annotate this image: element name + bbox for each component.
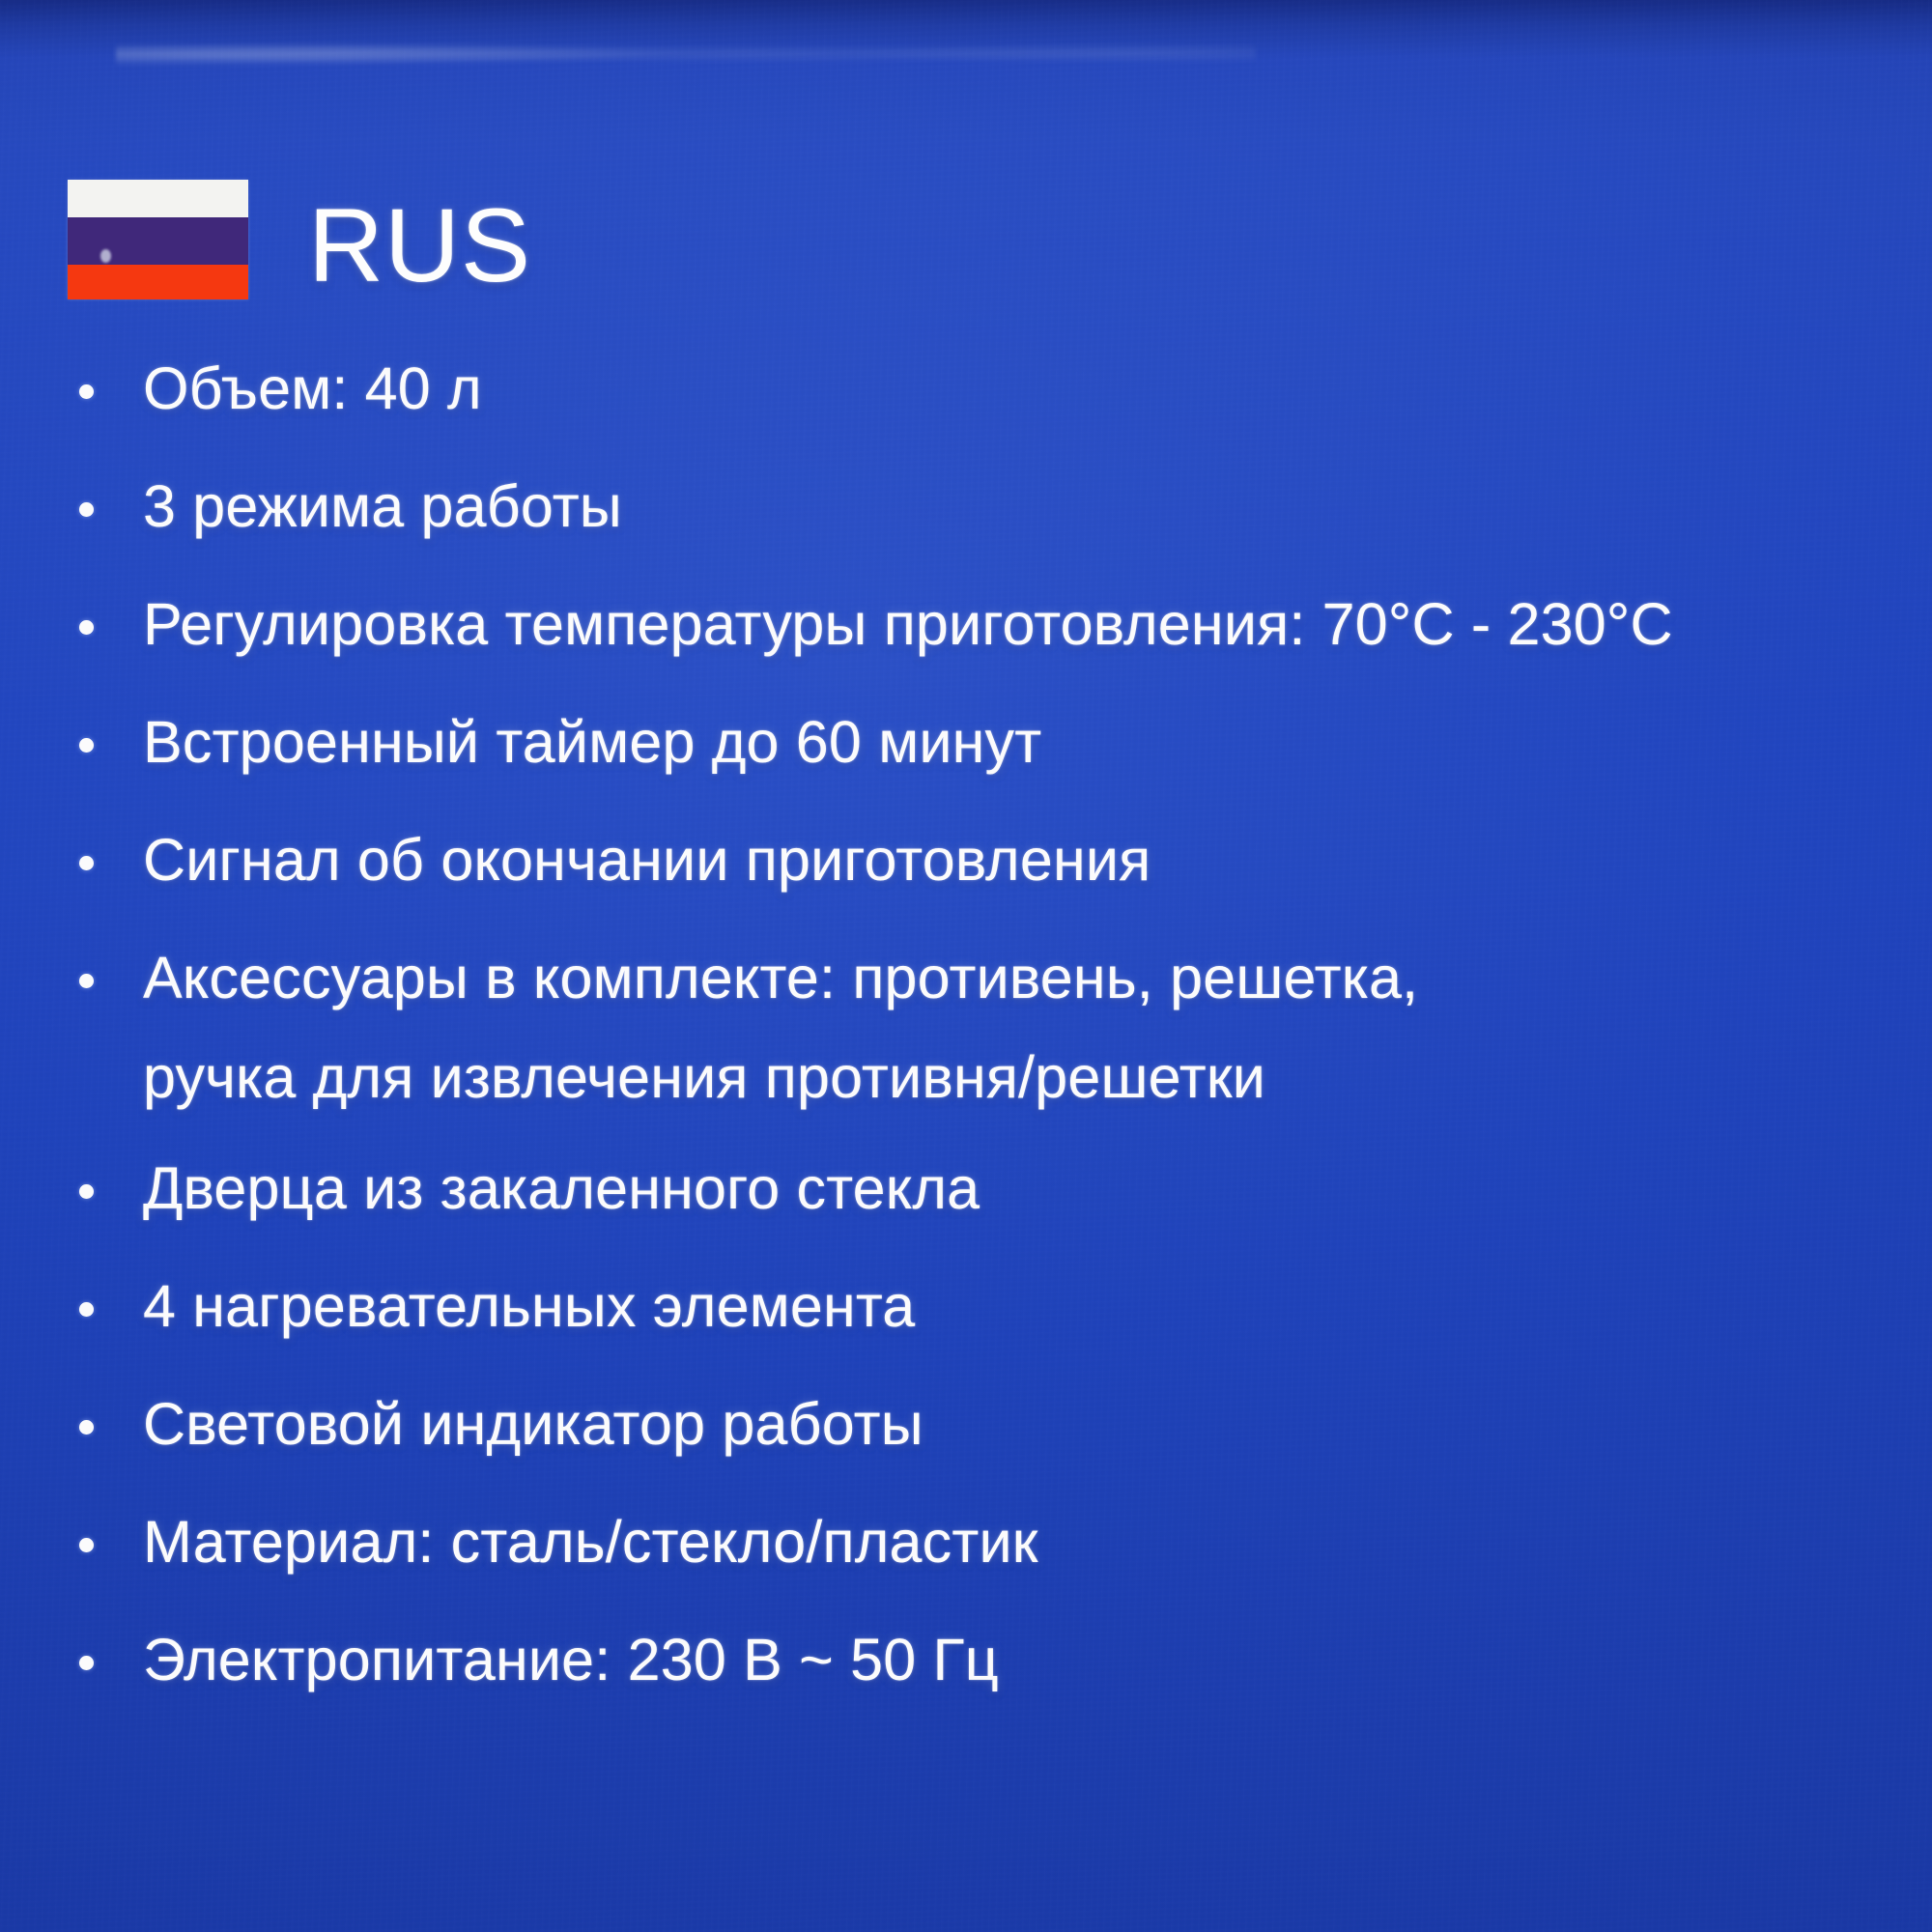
flag-speck [100,249,111,263]
list-item: 3 режима работы [71,477,1907,536]
russian-flag-icon [68,180,248,299]
flag-band-blue [68,217,248,265]
list-item: Дверца из закаленного стекла [71,1159,1907,1218]
list-item-text: Аксессуары в комплекте: противень, решет… [143,949,1907,1107]
print-smudge [116,37,1256,70]
language-code-label: RUS [308,193,531,298]
specification-list: Объем: 40 л 3 режима работы Регулировка … [71,359,1907,1748]
list-item-text: Электропитание: 230 В ~ 50 Гц [143,1631,1907,1690]
list-item-text: Материал: сталь/стекло/пластик [143,1513,1907,1572]
list-item: Регулировка температуры приготовления: 7… [71,595,1907,654]
list-item: Объем: 40 л [71,359,1907,418]
language-header: RUS [68,180,531,299]
bullet-icon [71,1513,143,1552]
list-item: Встроенный таймер до 60 минут [71,713,1907,772]
list-item-text: Дверца из закаленного стекла [143,1159,1907,1218]
list-item-text: 4 нагревательных элемента [143,1277,1907,1336]
list-item: Электропитание: 230 В ~ 50 Гц [71,1631,1907,1690]
flag-band-white [68,180,248,217]
list-item-text: Сигнал об окончании приготовления [143,831,1907,890]
list-item-text: Световой индикатор работы [143,1395,1907,1454]
list-item: Аксессуары в комплекте: противень, решет… [71,949,1907,1107]
list-item-text: 3 режима работы [143,477,1907,536]
bullet-icon [71,477,143,517]
list-item-text: Регулировка температуры приготовления: 7… [143,595,1907,654]
bullet-icon [71,595,143,635]
bullet-icon [71,831,143,870]
list-item-text: Встроенный таймер до 60 минут [143,713,1907,772]
bullet-icon [71,713,143,753]
list-item: Световой индикатор работы [71,1395,1907,1454]
bullet-icon [71,1395,143,1435]
list-item: 4 нагревательных элемента [71,1277,1907,1336]
bullet-icon [71,1277,143,1317]
product-box-spec-panel: RUS Объем: 40 л 3 режима работы Регулиро… [0,0,1932,1932]
list-item-text: Объем: 40 л [143,359,1907,418]
list-item: Сигнал об окончании приготовления [71,831,1907,890]
flag-band-red [68,265,248,299]
bullet-icon [71,1631,143,1670]
list-item: Материал: сталь/стекло/пластик [71,1513,1907,1572]
bullet-icon [71,359,143,399]
bullet-icon [71,1159,143,1199]
bullet-icon [71,949,143,988]
